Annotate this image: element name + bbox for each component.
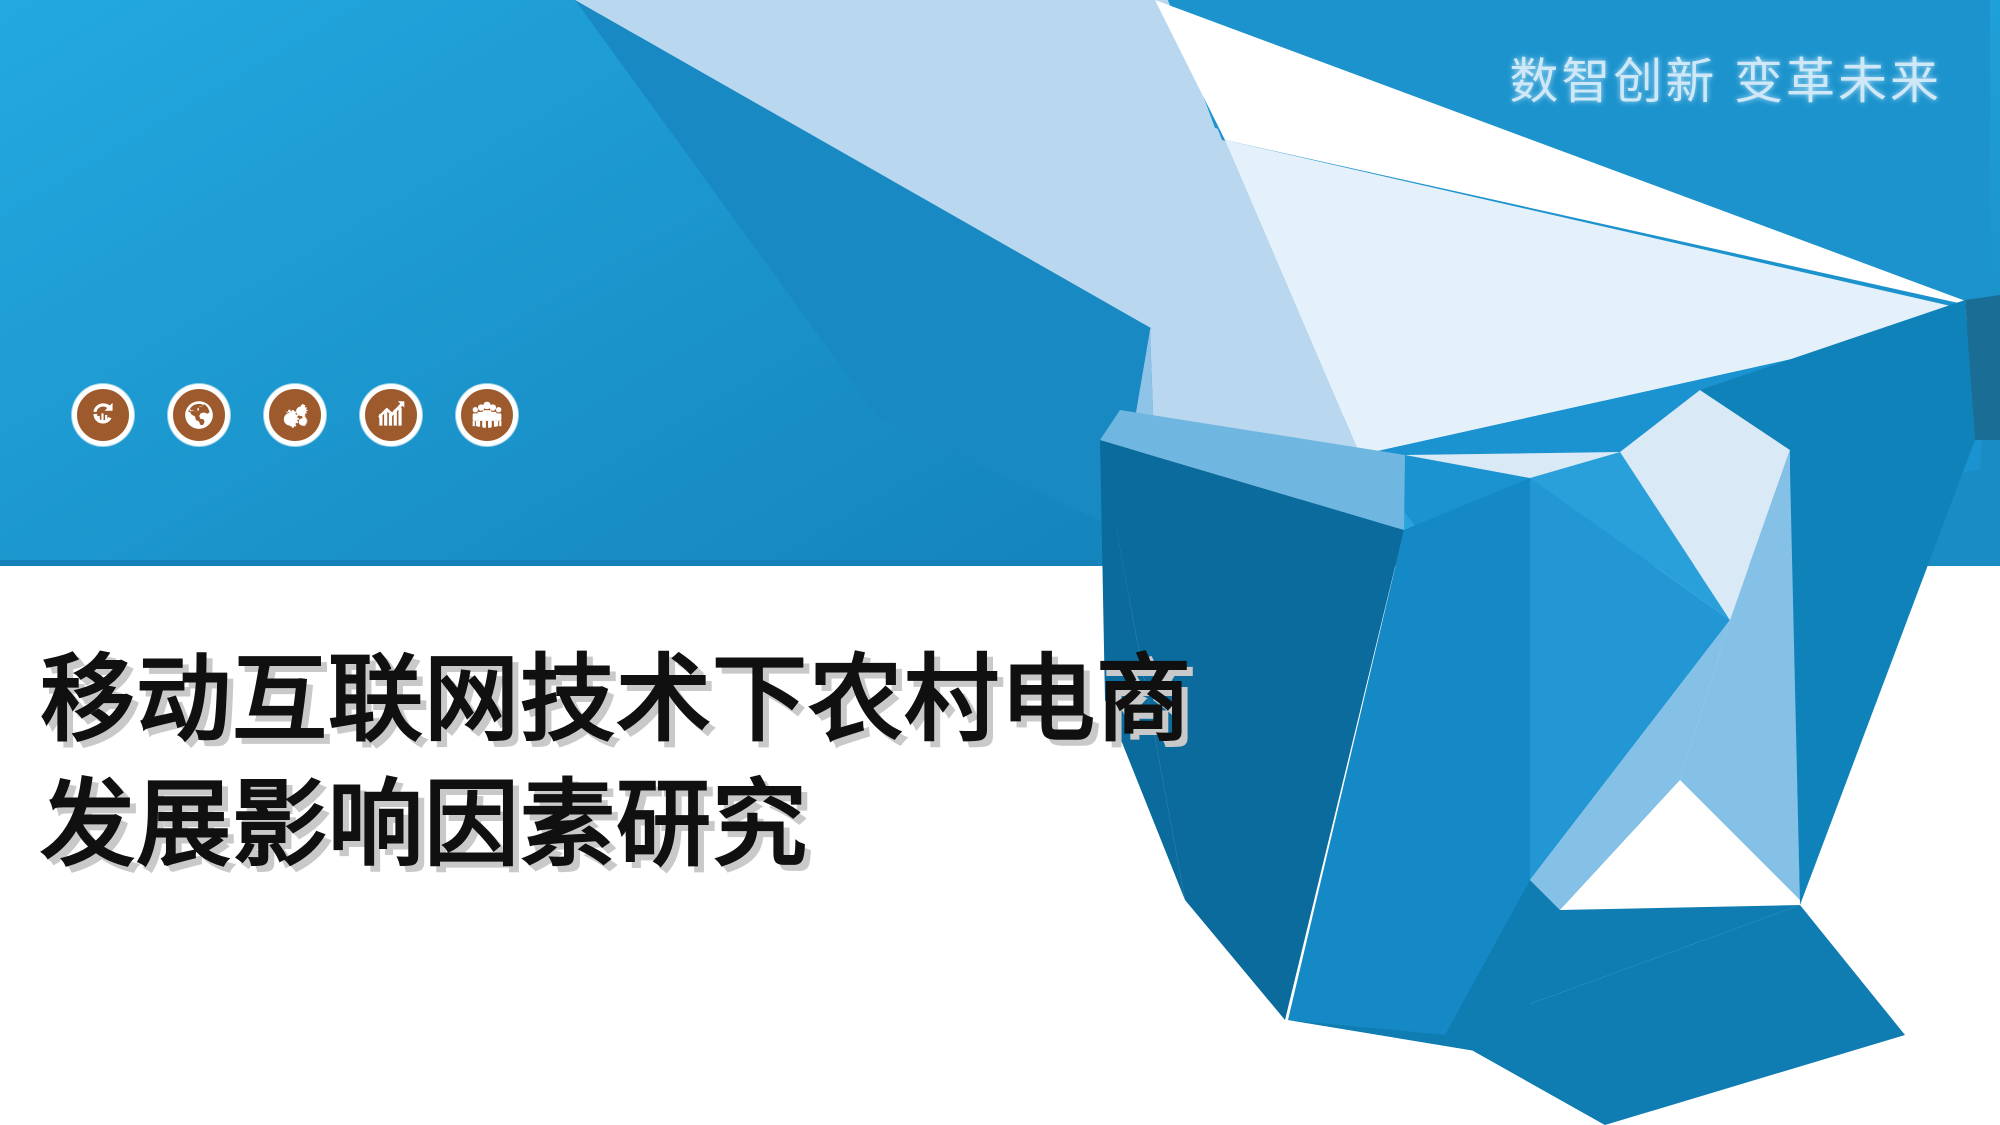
bar-chart-growth-icon — [360, 384, 422, 446]
globe-icon — [168, 384, 230, 446]
icon-row — [72, 384, 518, 446]
title-line-2: 发展影响因素研究 — [40, 763, 1190, 888]
presentation-title-slide: 数智创新 变革未来 — [0, 0, 2000, 1125]
background-polygon-artwork — [0, 0, 2000, 1125]
title-line-1: 移动互联网技术下农村电商 — [40, 638, 1190, 763]
growth-arrow-chart-icon — [72, 384, 134, 446]
tagline-text: 数智创新 变革未来 — [1509, 42, 1942, 113]
page-title: 移动互联网技术下农村电商 发展影响因素研究 — [40, 638, 1190, 889]
gears-icon — [264, 384, 326, 446]
people-group-icon — [456, 384, 518, 446]
